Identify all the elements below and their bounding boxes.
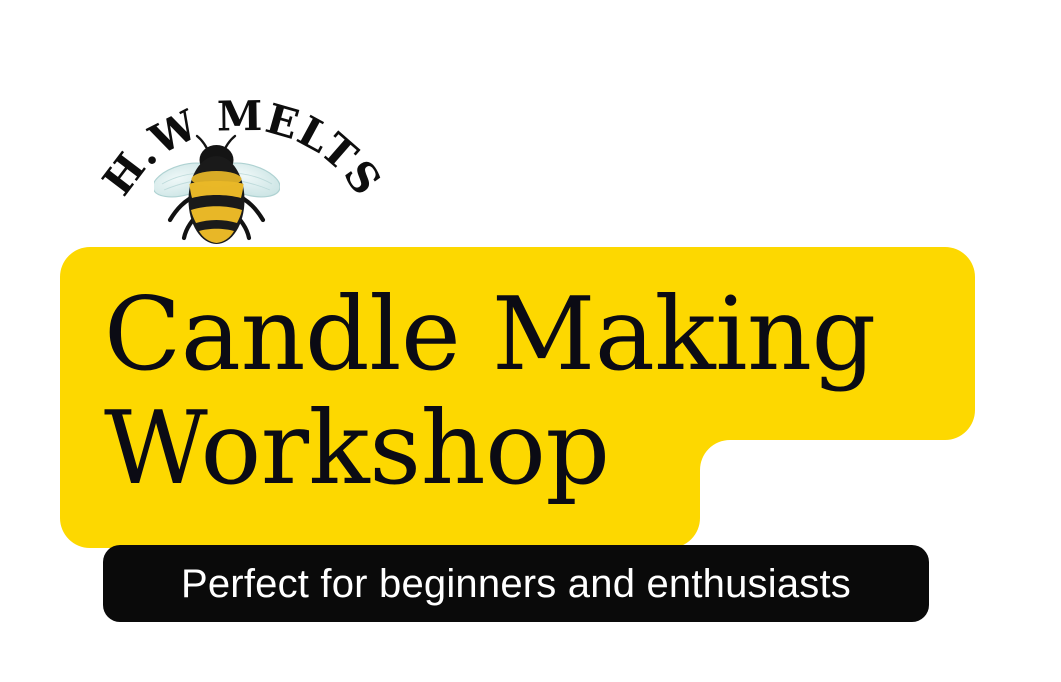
- title-line-1: Candle Making: [104, 277, 964, 391]
- brand-logo: H.W MELTS: [96, 86, 386, 261]
- poster-title: Candle Making Workshop: [104, 277, 964, 505]
- bee-icon: [154, 128, 280, 254]
- title-banner: Candle Making Workshop: [60, 247, 977, 549]
- event-poster: H.W MELTS: [0, 0, 1061, 682]
- title-line-2: Workshop: [104, 391, 964, 505]
- bee-body: [189, 156, 245, 244]
- subtitle-banner: Perfect for beginners and enthusiasts: [103, 545, 929, 622]
- subtitle-text: Perfect for beginners and enthusiasts: [181, 561, 851, 607]
